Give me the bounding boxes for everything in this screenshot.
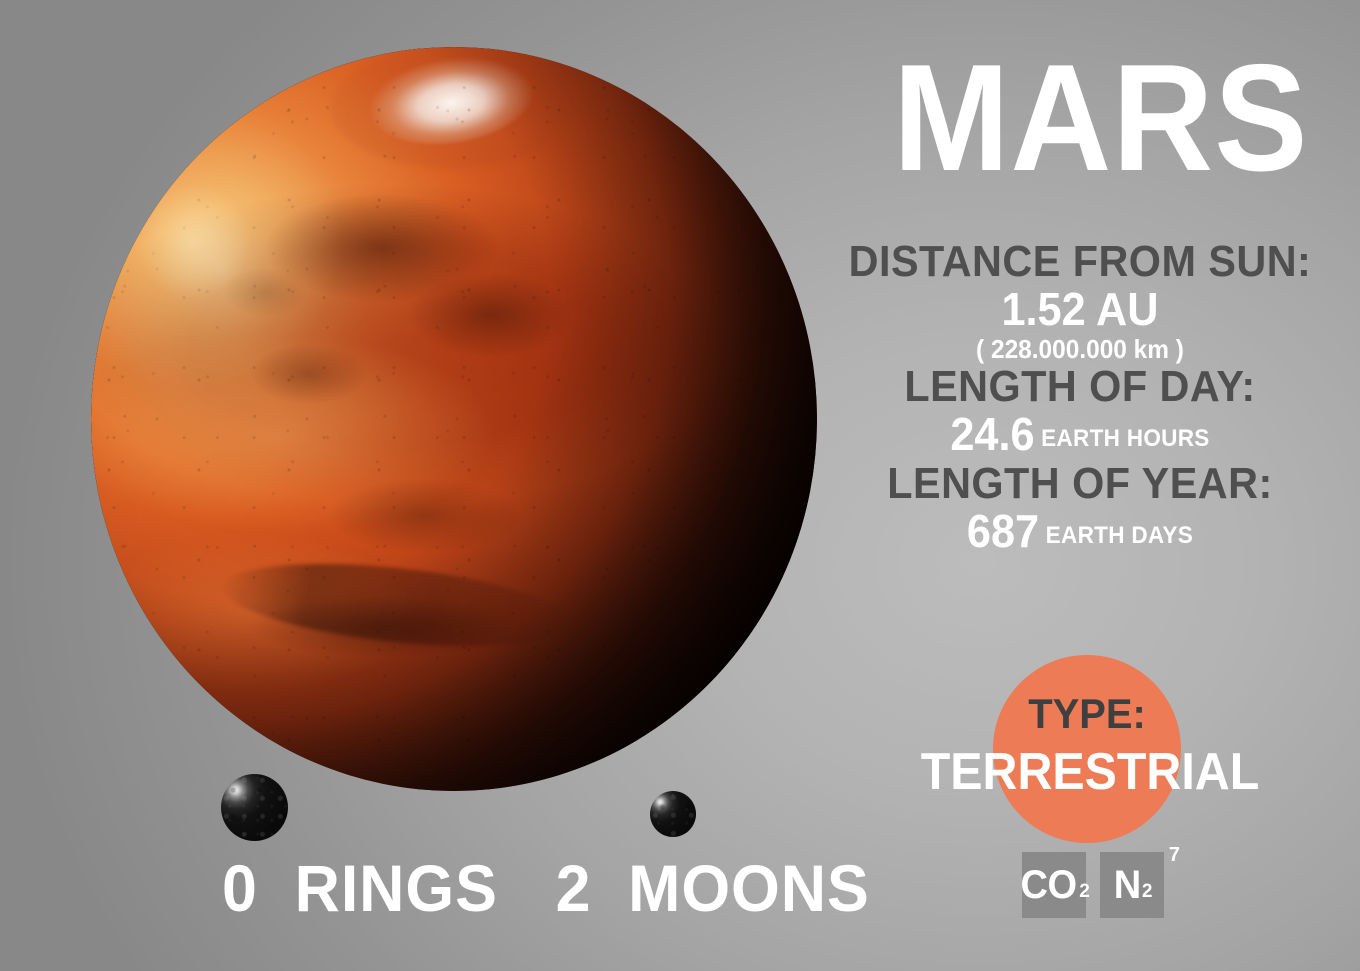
planet-disc — [91, 47, 817, 791]
planet-type-label: TYPE: — [998, 690, 1177, 738]
stat-day-value-row: 24.6EARTH HOURS — [845, 410, 1315, 460]
stat-day-label: LENGTH OF DAY: — [845, 365, 1315, 410]
moon-texture — [650, 791, 696, 837]
terminator-shadow — [91, 47, 817, 791]
stat-distance-value: 1.52 AU — [845, 285, 1315, 335]
moon-texture — [221, 774, 288, 841]
rings-count: 0 — [222, 851, 258, 925]
moon-deimos — [650, 791, 696, 837]
chem-formula: CO — [1021, 865, 1077, 905]
stat-distance: DISTANCE FROM SUN: 1.52 AU ( 228.000.000… — [830, 240, 1330, 363]
moon-phobos — [221, 774, 288, 841]
stat-year-unit: EARTH DAYS — [1046, 522, 1193, 549]
mars-planet-image — [91, 47, 817, 791]
stat-distance-label: DISTANCE FROM SUN: — [845, 240, 1315, 285]
planet-type-value: TERRESTRIAL — [913, 742, 1266, 802]
rings-label: RINGS — [295, 851, 498, 925]
stat-day-value: 24.6 — [950, 410, 1034, 460]
moons-count: 2 — [556, 851, 592, 925]
chem-formula: N — [1113, 865, 1140, 905]
stat-distance-sub: ( 228.000.000 km ) — [845, 335, 1315, 364]
stat-year: LENGTH OF YEAR: 687EARTH DAYS — [830, 462, 1330, 557]
satellites-summary: 0 RINGS 2 MOONS — [222, 855, 870, 921]
planet-title: MARS — [893, 42, 1308, 194]
stats-panel: DISTANCE FROM SUN: 1.52 AU ( 228.000.000… — [830, 240, 1330, 558]
chem-footnote-marker: 7 — [1169, 844, 1180, 867]
stat-day-unit: EARTH HOURS — [1041, 425, 1210, 452]
chem-subscript: 2 — [1079, 881, 1090, 903]
stat-year-value-row: 687EARTH DAYS — [845, 507, 1315, 557]
chem-badge-co2: CO2 — [1022, 852, 1086, 918]
stat-year-value: 687 — [967, 507, 1039, 557]
chem-subscript: 2 — [1142, 881, 1153, 903]
moons-label: MOONS — [628, 851, 870, 925]
chem-badge-n2: N2 7 — [1100, 852, 1164, 918]
stat-year-label: LENGTH OF YEAR: — [845, 462, 1315, 507]
stat-day: LENGTH OF DAY: 24.6EARTH HOURS — [830, 365, 1330, 460]
atmosphere-composition: CO2 N2 7 — [1022, 852, 1164, 918]
mars-infographic: MARS DISTANCE FROM SUN: 1.52 AU ( 228.00… — [0, 0, 1360, 971]
